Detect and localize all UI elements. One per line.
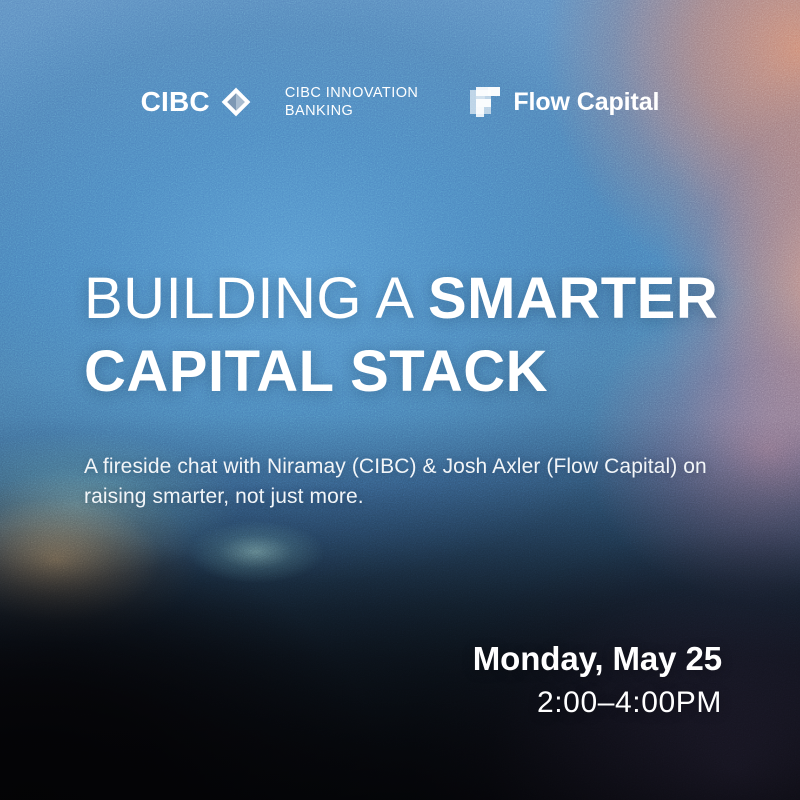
cibc-innovation-banking-logo: CIBC CIBC INNOVATION BANKING [141,84,419,120]
cibc-logo-divider [268,85,269,119]
cibc-diamond-icon [220,86,252,118]
page-title: BUILDING A SMARTER CAPITAL STACK [84,262,744,408]
poster-content: CIBC CIBC INNOVATION BANKING [0,0,800,800]
headline-line-1: BUILDING A SMARTER [84,262,744,335]
flow-capital-logo: Flow Capital [470,87,659,117]
flow-capital-f-mark-icon [470,87,500,117]
event-description: A fireside chat with Niramay (CIBC) & Jo… [84,452,736,513]
headline-line-1-light: BUILDING A [84,266,428,331]
event-poster: CIBC CIBC INNOVATION BANKING [0,0,800,800]
flow-capital-wordmark: Flow Capital [513,90,659,115]
event-date-time-block: Monday, May 25 2:00–4:00PM [473,640,722,722]
event-date: Monday, May 25 [473,640,722,679]
headline-line-2: CAPITAL STACK [84,335,744,408]
event-time: 2:00–4:00PM [473,683,722,722]
cibc-innovation-banking-subtitle: CIBC INNOVATION BANKING [285,84,419,120]
headline-line-2-bold: CAPITAL STACK [84,339,548,404]
headline-line-1-bold: SMARTER [428,266,718,331]
logo-bar: CIBC CIBC INNOVATION BANKING [0,84,800,120]
cibc-wordmark: CIBC [141,88,210,116]
